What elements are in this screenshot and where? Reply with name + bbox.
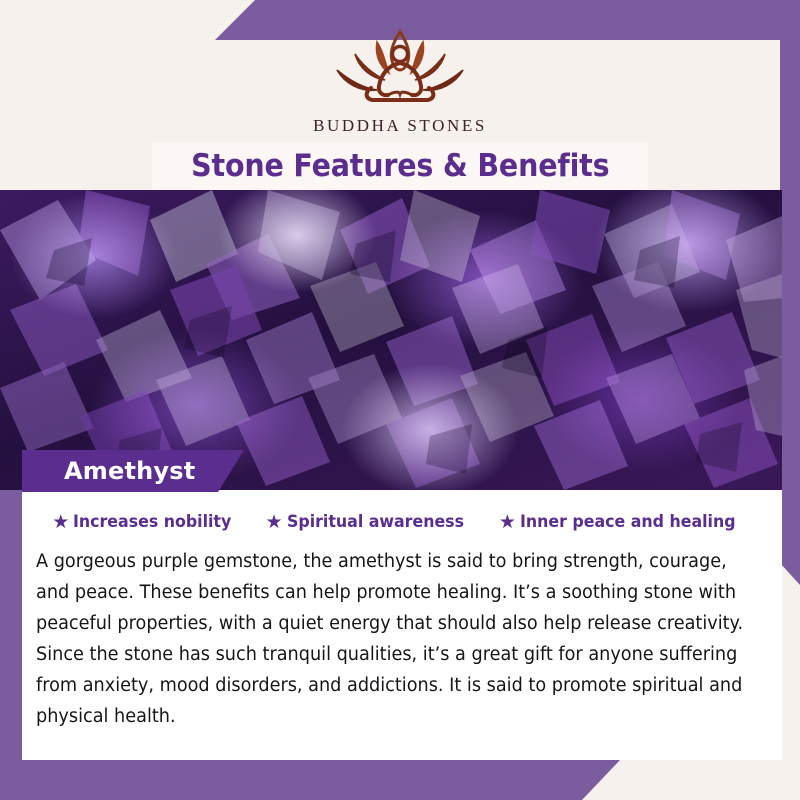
title-banner: Stone Features & Benefits: [152, 142, 648, 190]
frame-bar-bottom: [0, 760, 620, 800]
stone-description: A gorgeous purple gemstone, the amethyst…: [36, 546, 763, 732]
hero-image: [0, 190, 782, 490]
benefit-label: Increases nobility: [73, 512, 231, 532]
infographic-page: BUDDHA STONES: [0, 0, 800, 800]
brand-name: BUDDHA STONES: [313, 116, 487, 136]
benefit-item-1: ★ Spiritual awareness: [266, 512, 477, 532]
benefit-label: Spiritual awareness: [287, 512, 464, 532]
lotus-meditation-figure-icon: [315, 18, 485, 110]
stone-name-label: Amethyst: [64, 457, 195, 485]
benefit-item-0: ★ Increases nobility: [52, 512, 243, 532]
star-icon: ★: [266, 513, 283, 532]
frame-bar-left: [0, 490, 22, 780]
benefits-list: ★ Increases nobility ★ Spiritual awarene…: [36, 512, 768, 532]
crystal-shadows: [0, 190, 782, 490]
stone-name-badge: Amethyst: [22, 450, 244, 492]
content-panel: ★ Increases nobility ★ Spiritual awarene…: [22, 490, 782, 760]
page-title: Stone Features & Benefits: [191, 148, 609, 184]
star-icon: ★: [499, 513, 516, 532]
benefit-item-2: ★ Inner peace and healing: [499, 512, 752, 532]
brand-logo: BUDDHA STONES: [0, 18, 800, 136]
benefit-label: Inner peace and healing: [520, 512, 736, 532]
star-icon: ★: [52, 513, 69, 532]
